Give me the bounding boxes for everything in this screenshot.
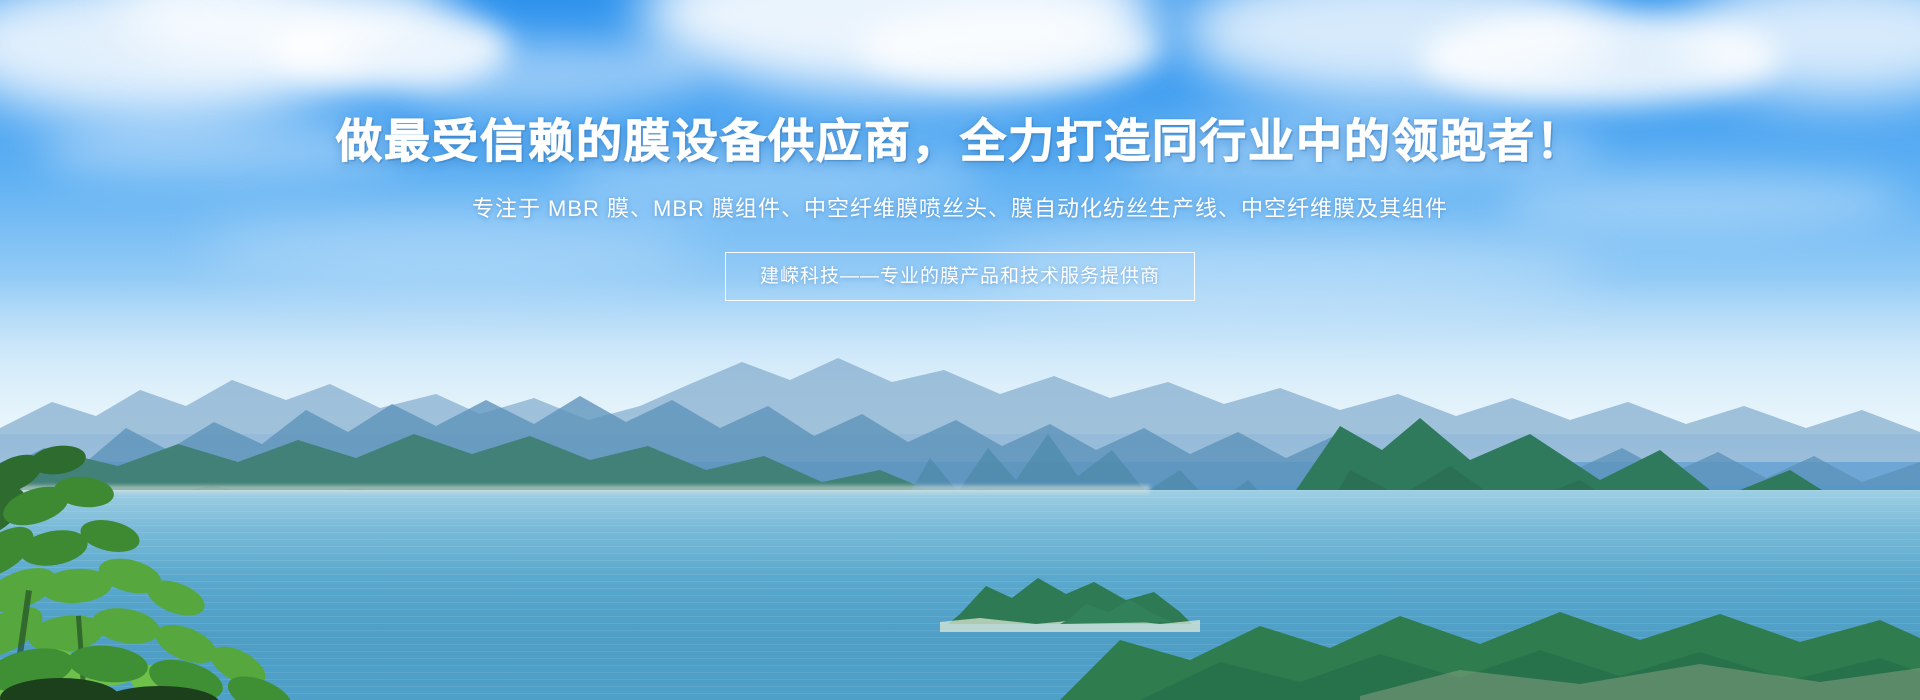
hero-banner: 做最受信赖的膜设备供应商，全力打造同行业中的领跑者！ 专注于 MBR 膜、MBR… [0,0,1920,700]
banner-subheadline: 专注于 MBR 膜、MBR 膜组件、中空纤维膜喷丝头、膜自动化纺丝生产线、中空纤… [0,164,1920,220]
near-hillside-right [1060,520,1920,700]
shoreline [0,486,1150,496]
banner-tagline: 建嵘科技——专业的膜产品和技术服务提供商 [725,252,1195,301]
banner-tagline-wrapper: 建嵘科技——专业的膜产品和技术服务提供商 [0,252,1920,301]
banner-copy: 做最受信赖的膜设备供应商，全力打造同行业中的领跑者！ 专注于 MBR 膜、MBR… [0,0,1920,301]
banner-headline: 做最受信赖的膜设备供应商，全力打造同行业中的领跑者！ [0,0,1920,164]
